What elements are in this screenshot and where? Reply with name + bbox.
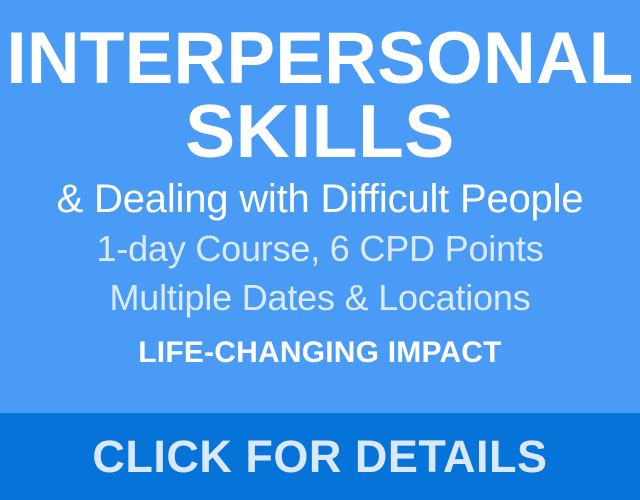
advertisement-banner[interactable]: INTERPERSONAL SKILLS & Dealing with Diff… <box>0 0 640 500</box>
cta-button-label: CLICK FOR DETAILS <box>92 433 547 481</box>
headline-line-1: INTERPERSONAL <box>0 22 640 95</box>
banner-message-panel: INTERPERSONAL SKILLS & Dealing with Diff… <box>0 0 640 413</box>
course-detail-dates-locations: Multiple Dates & Locations <box>109 277 530 319</box>
course-detail-duration-cpd: 1-day Course, 6 CPD Points <box>97 228 544 270</box>
cta-button[interactable]: CLICK FOR DETAILS <box>0 413 640 500</box>
banner-impact-tagline: LIFE-CHANGING IMPACT <box>138 336 501 370</box>
headline-line-2: SKILLS <box>0 95 640 168</box>
banner-subheadline: & Dealing with Difficult People <box>57 177 584 221</box>
headline-block: INTERPERSONAL SKILLS <box>0 22 640 168</box>
